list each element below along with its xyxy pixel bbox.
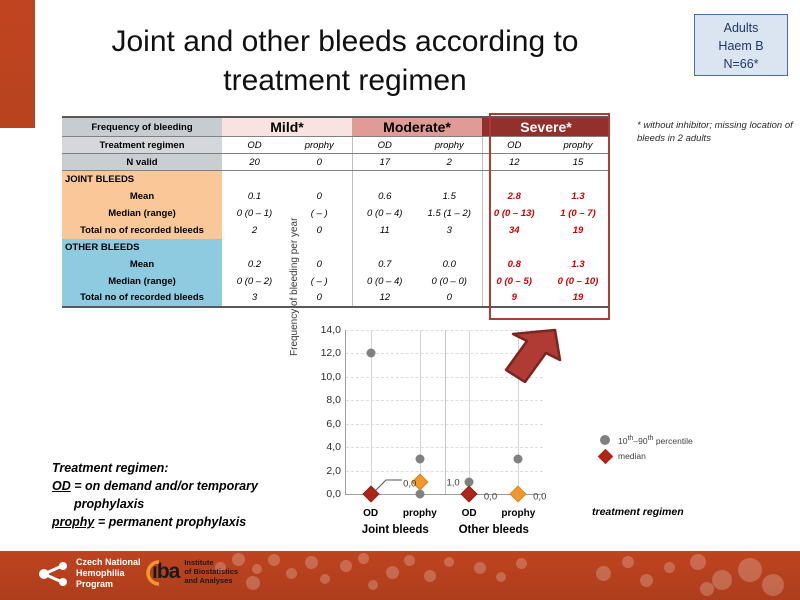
bleeding-frequency-table: Frequency of bleeding Mild* Moderate* Se… [62,116,610,308]
cell-other-mean-moderate-prophy: 0.0 [417,256,482,273]
cell-joint-total-severe-od: 34 [482,222,546,239]
logo1-text: Czech National Hemophilia Program [76,557,141,590]
cell-other-median-moderate-od: 0 (0 – 4) [352,273,417,290]
cell-other-median-severe-prophy: 0 (0 – 10) [546,273,610,290]
cell-joint-mean-moderate-prophy: 1.5 [417,188,482,205]
cell-other-total-mild-od: 3 [222,290,287,307]
treatment-regimen-legend: Treatment regimen: OD = on demand and/or… [52,459,307,531]
cell-joint-mean-severe-od: 2.8 [482,188,546,205]
cell-joint-median-mild-od: 0 (0 – 1) [222,205,287,222]
table-row-joint-total: Total no of recorded bleeds 2 0 11 3 34 … [62,222,610,239]
table-row-treatment-regimen: Treatment regimen OD prophy OD prophy OD… [62,137,610,154]
cell-other-mean-moderate-od: 0.7 [352,256,417,273]
ytick-14: 14,0 [321,324,341,336]
row-label-other-mean: Mean [62,256,222,273]
th-moderate: Moderate* [352,117,482,137]
xtick-joint-od: OD [363,508,378,519]
table-row-other-total: Total no of recorded bleeds 3 0 12 0 9 1… [62,290,610,307]
cell-other-mean-mild-od: 0.2 [222,256,287,273]
iba-subtitle: Institute of Biostatistics and Analyses [184,558,238,585]
cell-nvalid-mild-prophy: 0 [287,154,352,171]
table-row-joint-section: JOINT BLEEDS [62,171,610,188]
median-marker-other-prophy [510,486,527,503]
cell-other-total-moderate-prophy: 0 [417,290,482,307]
page-title: Joint and other bleeds according to trea… [55,22,635,100]
table-row-joint-median: Median (range) 0 (0 – 1) ( – ) 0 (0 – 4)… [62,205,610,222]
cell-nvalid-severe-prophy: 15 [546,154,610,171]
cell-joint-total-mild-od: 2 [222,222,287,239]
percentile-dot-icon [600,435,618,445]
percentile-dot-other-prophy-high [514,454,523,463]
cell-nvalid-mild-od: 20 [222,154,287,171]
footer-top-rule [0,548,800,551]
cell-nvalid-severe-od: 12 [482,154,546,171]
th-severe: Severe* [482,117,610,137]
badge-line-3: N=66* [695,55,787,73]
th-mild-od: OD [222,137,287,154]
notes-prophy-text: = permanent prophylaxis [94,515,246,529]
legend-label-percentile: 10th–90th percentile [618,434,693,446]
chart-y-axis-label: Frequency of bleeding per year [289,226,300,356]
median-label-joint-prophy: 1,0 [446,477,459,488]
cell-joint-median-severe-prophy: 1 (0 – 7) [546,205,610,222]
median-label-joint-od: 0,0 [403,479,416,490]
cell-joint-median-severe-od: 0 (0 – 13) [482,205,546,222]
cell-joint-mean-severe-prophy: 1.3 [546,188,610,205]
cell-joint-median-moderate-od: 0 (0 – 4) [352,205,417,222]
cohort-badge: Adults Haem B N=66* [694,14,788,76]
th-treatment-regimen: Treatment regimen [62,137,222,154]
chart-legend: 10th–90th percentile median [600,432,693,464]
row-label-other-median: Median (range) [62,273,222,290]
cell-nvalid-moderate-od: 17 [352,154,417,171]
cell-other-total-moderate-od: 12 [352,290,417,307]
table-row-joint-mean: Mean 0.1 0 0.6 1.5 2.8 1.3 [62,188,610,205]
table-row-group-header: Frequency of bleeding Mild* Moderate* Se… [62,117,610,137]
th-frequency-of-bleeding: Frequency of bleeding [62,117,222,137]
badge-line-1: Adults [695,19,787,37]
ytick-12: 12,0 [321,347,341,359]
percentile-dot-joint-od-high [366,349,375,358]
median-label-other-prophy: 0,0 [533,492,546,503]
cell-other-total-severe-prophy: 19 [546,290,610,307]
cell-other-mean-severe-prophy: 1.3 [546,256,610,273]
notes-od-text: = on demand and/or temporary [71,479,258,493]
median-label-other-od: 0,0 [484,492,497,503]
cell-joint-total-severe-prophy: 19 [546,222,610,239]
legend-label-median: median [618,451,646,461]
table-footnote: * without inhibitor; missing location of… [637,119,797,145]
xtick-other-od: OD [462,508,477,519]
cell-joint-total-moderate-od: 11 [352,222,417,239]
xgroup-other-bleeds: Other bleeds [459,524,529,536]
xtick-other-prophy: prophy [501,508,535,519]
row-label-n-valid: N valid [62,154,222,171]
ytick-4: 4,0 [326,441,341,453]
badge-line-2: Haem B [695,37,787,55]
row-label-joint-median: Median (range) [62,205,222,222]
row-label-joint-mean: Mean [62,188,222,205]
notes-od-key: OD [52,479,71,493]
cell-joint-mean-moderate-od: 0.6 [352,188,417,205]
emphasis-arrow-icon [497,326,563,388]
median-marker-other-od [461,486,478,503]
cell-joint-total-moderate-prophy: 3 [417,222,482,239]
catline-other-od [469,330,470,494]
cell-joint-mean-mild-od: 0.1 [222,188,287,205]
th-severe-od: OD [482,137,546,154]
decorative-left-bar [0,0,35,128]
cell-other-median-severe-od: 0 (0 – 5) [482,273,546,290]
cell-nvalid-moderate-prophy: 2 [417,154,482,171]
notes-heading: Treatment regimen: [52,459,307,477]
xtick-joint-prophy: prophy [403,508,437,519]
molecule-icon [38,560,70,588]
catline-joint-prophy [420,330,421,494]
ytick-2: 2,0 [326,465,341,477]
table-row-other-mean: Mean 0.2 0 0.7 0.0 0.8 1.3 [62,256,610,273]
ytick-8: 8,0 [326,394,341,406]
catline-group-divider [445,330,446,494]
slide-footer: Czech National Hemophilia Program iba In… [0,548,800,600]
median-diamond-icon [600,451,618,462]
table-row-other-median: Median (range) 0 (0 – 2) ( – ) 0 (0 – 4)… [62,273,610,290]
th-moderate-od: OD [352,137,417,154]
section-header-joint-bleeds: JOINT BLEEDS [62,171,222,188]
cell-joint-median-moderate-prophy: 1.5 (1 – 2) [417,205,482,222]
th-severe-prophy: prophy [546,137,610,154]
percentile-dot-joint-prophy-low [415,490,424,499]
ytick-0: 0,0 [326,488,341,500]
row-label-other-total: Total no of recorded bleeds [62,290,222,307]
notes-prophy-line: prophy = permanent prophylaxis [52,513,307,531]
cell-joint-mean-mild-prophy: 0 [287,188,352,205]
cell-other-median-mild-od: 0 (0 – 2) [222,273,287,290]
cell-other-median-moderate-prophy: 0 (0 – 0) [417,273,482,290]
row-label-joint-total: Total no of recorded bleeds [62,222,222,239]
iba-logo: iba Institute of Biostatistics and Analy… [152,558,238,585]
xgroup-joint-bleeds: Joint bleeds [362,524,429,536]
legend-item-percentile: 10th–90th percentile [600,432,693,448]
section-header-other-bleeds: OTHER BLEEDS [62,239,222,256]
czech-national-hemophilia-program-logo: Czech National Hemophilia Program [38,557,141,590]
table-row-other-section: OTHER BLEEDS [62,239,610,256]
cell-other-mean-severe-od: 0.8 [482,256,546,273]
th-mild: Mild* [222,117,352,137]
ytick-10: 10,0 [321,371,341,383]
notes-prophy-key: prophy [52,515,94,529]
iba-swoosh-icon [146,560,160,586]
ytick-6: 6,0 [326,418,341,430]
th-mild-prophy: prophy [287,137,352,154]
chart-x-axis-label: treatment regimen [592,506,684,518]
cell-other-total-severe-od: 9 [482,290,546,307]
legend-item-median: median [600,448,693,464]
percentile-dot-joint-prophy-high [415,454,424,463]
notes-od-line: OD = on demand and/or temporary [52,477,307,495]
th-moderate-prophy: prophy [417,137,482,154]
table-row-n-valid: N valid 20 0 17 2 12 15 [62,154,610,171]
notes-od-cont: prophylaxis [52,495,307,513]
